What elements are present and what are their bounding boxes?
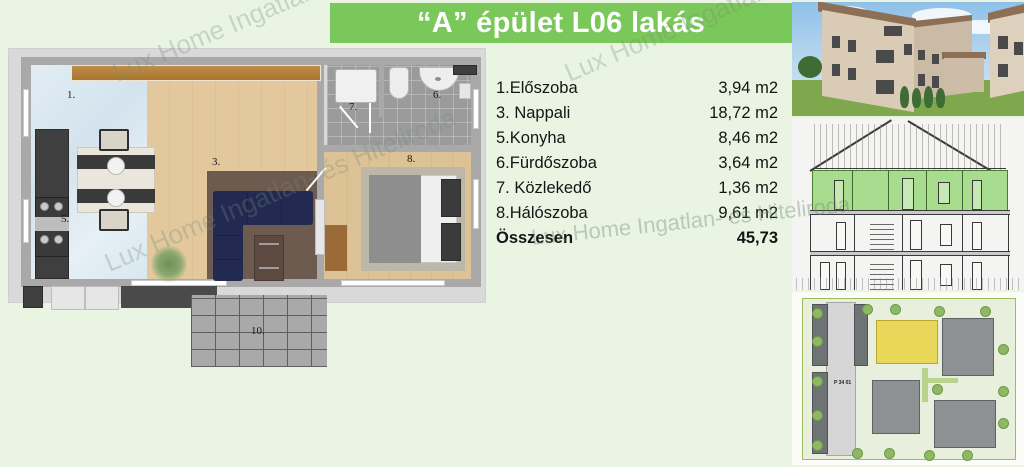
burner-icon (54, 202, 63, 211)
tree (934, 306, 945, 317)
room-number-kozlekedo: 7. (349, 101, 357, 113)
window-render (832, 64, 840, 76)
window-render (904, 44, 912, 55)
coffee-table-detail (259, 267, 279, 269)
hedge (928, 378, 958, 383)
door-jamb-bath (369, 103, 371, 133)
building-render-photo (792, 2, 1024, 116)
staircase (870, 224, 894, 250)
dining-chair-top (99, 129, 129, 151)
dining-chair-bottom (99, 209, 129, 231)
base-cabinet-1 (51, 286, 85, 310)
room-number-haloszoba: 8. (407, 153, 415, 165)
tree (812, 336, 823, 347)
facade-right-edge (990, 12, 1024, 98)
window-render (848, 68, 856, 80)
section-door (834, 180, 844, 210)
media-unit (315, 199, 325, 255)
coffee-table-detail (259, 243, 279, 245)
bed-blanket (369, 175, 421, 263)
area-room-name: 6.Fürdőszoba (496, 151, 597, 176)
area-row: 7. Közlekedő 1,36 m2 (496, 176, 786, 201)
section-door (836, 222, 846, 250)
tree (998, 344, 1009, 355)
burner-icon (54, 235, 63, 244)
bathtub (335, 69, 377, 103)
area-total-value: 45,73 (737, 226, 778, 251)
wardrobe (325, 225, 347, 271)
sofa-seam (247, 193, 248, 223)
window-render (884, 26, 902, 36)
area-row: 5.Konyha 8,46 m2 (496, 126, 786, 151)
window-render (918, 74, 925, 86)
building-a-highlighted (876, 320, 938, 364)
area-room-value: 9,61 m2 (718, 201, 778, 226)
area-room-value: 8,46 m2 (718, 126, 778, 151)
area-total-row: Összesen 45,73 (496, 226, 786, 251)
area-total-label: Összesen (496, 226, 573, 251)
window-render (998, 36, 1008, 49)
area-row: 6.Fürdőszoba 3,64 m2 (496, 151, 786, 176)
window-render (998, 64, 1008, 77)
base-cabinet-2 (85, 286, 119, 310)
potted-plant (151, 245, 187, 283)
shrub (936, 88, 945, 108)
area-row: 1.Előszoba 3,94 m2 (496, 76, 786, 101)
burner-icon (40, 235, 49, 244)
window-bedroom-south (341, 280, 445, 286)
room-number-furdoszoba: 6. (433, 89, 441, 101)
shrub (924, 86, 933, 108)
tree (812, 440, 823, 451)
floor-plan: 1. 3. 5. 6. 7. 8. 10. (8, 48, 486, 303)
section-door (972, 222, 982, 250)
tree (998, 386, 1009, 397)
floor-slab-1 (810, 251, 1010, 256)
tree (962, 450, 973, 461)
burner-icon (40, 202, 49, 211)
pillow (441, 179, 461, 217)
window-render (876, 50, 894, 63)
partition (888, 170, 889, 212)
area-room-value: 3,94 m2 (718, 76, 778, 101)
partition (962, 170, 963, 212)
tree (862, 304, 873, 315)
plate (107, 157, 125, 175)
wood-beam (71, 65, 321, 81)
room-number-nappali: 3. (212, 156, 220, 168)
tree (932, 384, 943, 395)
sofa-seam (215, 235, 241, 236)
poster-root: “A” épület L06 lakás (0, 0, 1024, 467)
coffee-table (254, 235, 284, 281)
ground-hatch (796, 278, 1020, 290)
area-room-name: 5.Konyha (496, 126, 566, 151)
tree (924, 450, 935, 461)
section-door (972, 180, 982, 210)
shrub (900, 86, 909, 108)
tree (812, 410, 823, 421)
section-window (938, 182, 950, 204)
window-right-bedroom (473, 179, 479, 229)
sofa-seam (215, 259, 241, 260)
hedge (922, 368, 928, 402)
tree (812, 376, 823, 387)
area-room-name: 7. Közlekedő (496, 176, 591, 201)
tree (884, 448, 895, 459)
building-cross-section (792, 118, 1024, 290)
tree (980, 306, 991, 317)
area-room-name: 8.Hálószoba (496, 201, 588, 226)
area-row: 8.Hálószoba 9,61 m2 (496, 201, 786, 226)
section-door (902, 178, 914, 210)
tree (798, 56, 822, 78)
window-render (848, 40, 856, 52)
room-number-konyha: 5. (61, 213, 69, 225)
area-row: 3. Nappali 18,72 m2 (496, 101, 786, 126)
area-room-name: 3. Nappali (496, 101, 570, 126)
page-title: “A” épület L06 lakás (417, 7, 705, 40)
area-room-value: 18,72 m2 (709, 101, 778, 126)
window-render (918, 50, 925, 60)
room-number-terasz: 10. (251, 325, 265, 337)
section-door (910, 220, 922, 250)
partition (852, 170, 853, 212)
tree (998, 418, 1009, 429)
wall-top (21, 57, 481, 65)
attic-base-line (814, 168, 1006, 169)
tree (890, 304, 901, 315)
access-road (826, 302, 856, 456)
room-number-eloszoba: 1. (67, 89, 75, 101)
partition (962, 215, 963, 253)
wall-bath-bedroom (317, 145, 481, 152)
window-render (1014, 42, 1023, 55)
window-right-bath (473, 89, 479, 129)
tree (812, 308, 823, 319)
window-render (932, 76, 939, 88)
window-left-lower (23, 199, 29, 243)
partition (902, 215, 903, 253)
area-schedule: 1.Előszoba 3,94 m2 3. Nappali 18,72 m2 5… (496, 76, 786, 251)
area-room-value: 3,64 m2 (718, 151, 778, 176)
building-d (934, 400, 996, 448)
sofa-chaise (213, 191, 243, 281)
section-window (940, 224, 952, 246)
tree (852, 448, 863, 459)
plate (107, 189, 125, 207)
window-render (932, 54, 939, 64)
area-room-value: 1,36 m2 (718, 176, 778, 201)
area-room-name: 1.Előszoba (496, 76, 578, 101)
partition (854, 215, 855, 253)
title-banner: “A” épület L06 lakás (330, 3, 792, 43)
window-render (832, 36, 840, 48)
base-cabinet-corner (23, 286, 43, 308)
sofa-seam (281, 193, 282, 223)
wall-wc-divider (379, 57, 384, 117)
wall-line (810, 215, 811, 253)
building-c (872, 380, 920, 434)
facade-far (944, 58, 984, 92)
floor-slab-2 (810, 210, 1010, 215)
window-left-upper (23, 89, 29, 137)
site-plan: P 34 01 (792, 292, 1024, 465)
wall-line (1008, 215, 1009, 253)
attic-trusses (814, 124, 1004, 170)
shrub (912, 88, 921, 108)
parcel-label: P 34 01 (834, 380, 851, 386)
window-render (876, 80, 894, 94)
partition (926, 170, 927, 212)
toilet (389, 67, 409, 99)
faucet-icon (435, 77, 441, 81)
building-b (942, 318, 994, 376)
washing-machine (459, 83, 471, 99)
bath-mirror-cabinet (453, 65, 477, 75)
pillow (441, 223, 461, 261)
